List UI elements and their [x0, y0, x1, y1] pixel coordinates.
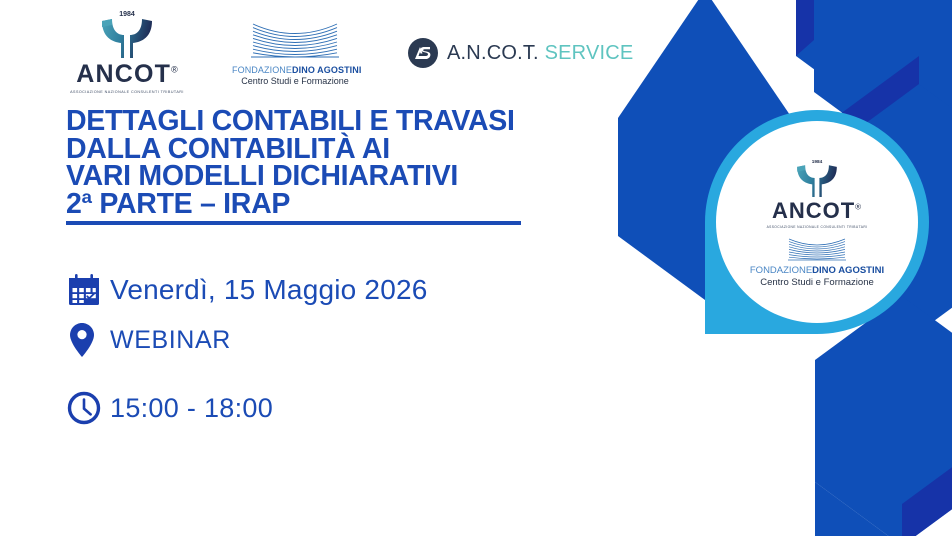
- title-line-3: VARI MODELLI DICHIARATIVI: [66, 163, 626, 191]
- fondazione-tagline: Centro Studi e Formazione: [232, 76, 358, 86]
- event-date: Venerdì, 15 Maggio 2026: [110, 274, 428, 306]
- page-title: DETTAGLI CONTABILI E TRAVASI DALLA CONTA…: [66, 108, 626, 225]
- title-line-2: DALLA CONTABILITÀ AI: [66, 136, 626, 164]
- badge-fondazione-tagline: Centro Studi e Formazione: [760, 277, 874, 288]
- ancot-wordmark: ANCOT®: [66, 62, 188, 87]
- ancot-symbol-icon: 1984: [794, 157, 840, 199]
- logo-ancot: 1984 ANCOT® ASSOCIAZIONE NAZIONALE CONSU…: [66, 8, 188, 94]
- logo-strip: 1984 ANCOT® ASSOCIAZIONE NAZIONALE CONSU…: [0, 0, 620, 105]
- clock-icon: [66, 390, 110, 426]
- title-line-1: DETTAGLI CONTABILI E TRAVASI: [66, 108, 626, 136]
- fondazione-lines-icon: [249, 22, 341, 64]
- fondazione-lines-icon: [786, 237, 848, 263]
- event-details: Venerdì, 15 Maggio 2026 WEBINAR 15:00 - …: [66, 265, 536, 433]
- title-underline: [66, 221, 521, 225]
- logo-ancot-service: A.N.CO.T. SERVICE: [408, 38, 633, 68]
- svg-text:1984: 1984: [812, 158, 823, 164]
- service-wordmark: A.N.CO.T. SERVICE: [447, 42, 633, 65]
- detail-row-time: 15:00 - 18:00: [66, 383, 536, 433]
- detail-row-location: WEBINAR: [66, 315, 536, 365]
- badge-tagline: ASSOCIAZIONE NAZIONALE CONSULENTI TRIBUT…: [767, 225, 868, 229]
- map-pin-icon: [66, 321, 110, 359]
- as-monogram-icon: [408, 38, 438, 68]
- event-location: WEBINAR: [110, 326, 231, 355]
- badge-inner: 1984 ANCOT® ASSOCIAZIONE NAZIONALE CONSU…: [716, 121, 918, 323]
- ancot-circle-badge: 1984 ANCOT® ASSOCIAZIONE NAZIONALE CONSU…: [705, 110, 929, 334]
- fondazione-name: FONDAZIONEDINO AGOSTINI: [232, 66, 358, 75]
- ancot-tagline: ASSOCIAZIONE NAZIONALE CONSULENTI TRIBUT…: [65, 90, 189, 94]
- logo-fondazione: FONDAZIONEDINO AGOSTINI Centro Studi e F…: [232, 22, 358, 86]
- detail-row-date: Venerdì, 15 Maggio 2026: [66, 265, 536, 315]
- badge-wordmark: ANCOT®: [772, 200, 862, 222]
- calendar-icon: [66, 272, 110, 308]
- badge-fondazione-name: FONDAZIONEDINO AGOSTINI: [750, 265, 884, 276]
- title-line-4: 2ª PARTE – IRAP: [66, 191, 626, 219]
- event-banner: 1984 ANCOT® ASSOCIAZIONE NAZIONALE CONSU…: [0, 0, 952, 536]
- svg-text:1984: 1984: [119, 11, 135, 18]
- ancot-symbol-icon: 1984: [98, 8, 156, 60]
- event-time: 15:00 - 18:00: [110, 393, 273, 424]
